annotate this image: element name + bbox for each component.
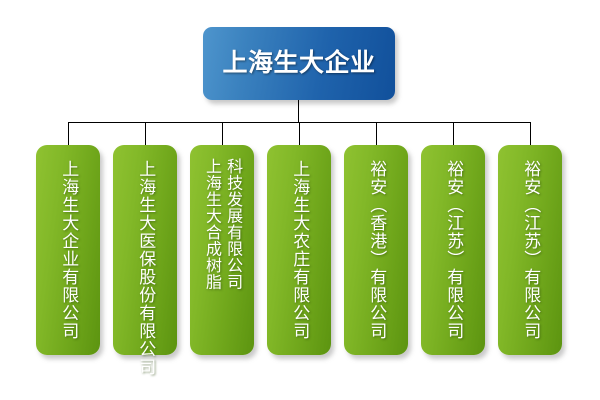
connector-root-stem bbox=[298, 100, 299, 122]
connector-drop-child-6 bbox=[453, 122, 454, 145]
org-node-child-6-duplicate[interactable]: 裕安（江苏）有限公司 bbox=[498, 145, 562, 355]
org-node-child-4-label: 上海生大农庄有限公司 bbox=[288, 160, 310, 340]
org-node-child-2[interactable]: 上海生大医保股份有限公司 bbox=[113, 145, 177, 355]
org-node-root[interactable]: 上海生大企业 bbox=[203, 27, 395, 100]
org-node-child-5-label: 裕安（香港）有限公司 bbox=[365, 160, 387, 340]
org-node-root-label: 上海生大企业 bbox=[222, 51, 375, 76]
connector-drop-child-1 bbox=[68, 122, 69, 145]
connector-drop-child-2 bbox=[145, 122, 146, 145]
org-node-child-6-duplicate-label: 裕安（江苏）有限公司 bbox=[519, 160, 541, 340]
org-chart: 上海生大企业 上海生大企业有限公司 上海生大医保股份有限公司 科技发展有限公司 … bbox=[0, 0, 600, 400]
connector-drop-child-3 bbox=[222, 122, 223, 145]
org-node-child-2-label: 上海生大医保股份有限公司 bbox=[134, 160, 156, 376]
org-node-child-5[interactable]: 裕安（香港）有限公司 bbox=[344, 145, 408, 355]
org-node-child-6[interactable]: 裕安（江苏）有限公司 bbox=[421, 145, 485, 355]
org-node-child-6-label: 裕安（江苏）有限公司 bbox=[442, 160, 464, 340]
org-node-child-1-label: 上海生大企业有限公司 bbox=[57, 160, 79, 340]
connector-drop-child-6-end bbox=[530, 122, 531, 145]
org-node-child-3-label-column-2: 上海生大合成树脂 bbox=[201, 158, 222, 290]
org-node-child-3[interactable]: 科技发展有限公司 上海生大合成树脂 bbox=[190, 145, 254, 355]
connector-drop-child-4 bbox=[299, 122, 300, 145]
org-node-child-3-label-column-1: 科技发展有限公司 bbox=[222, 158, 243, 290]
org-node-child-4[interactable]: 上海生大农庄有限公司 bbox=[267, 145, 331, 355]
connector-drop-child-5 bbox=[376, 122, 377, 145]
org-node-child-1[interactable]: 上海生大企业有限公司 bbox=[36, 145, 100, 355]
